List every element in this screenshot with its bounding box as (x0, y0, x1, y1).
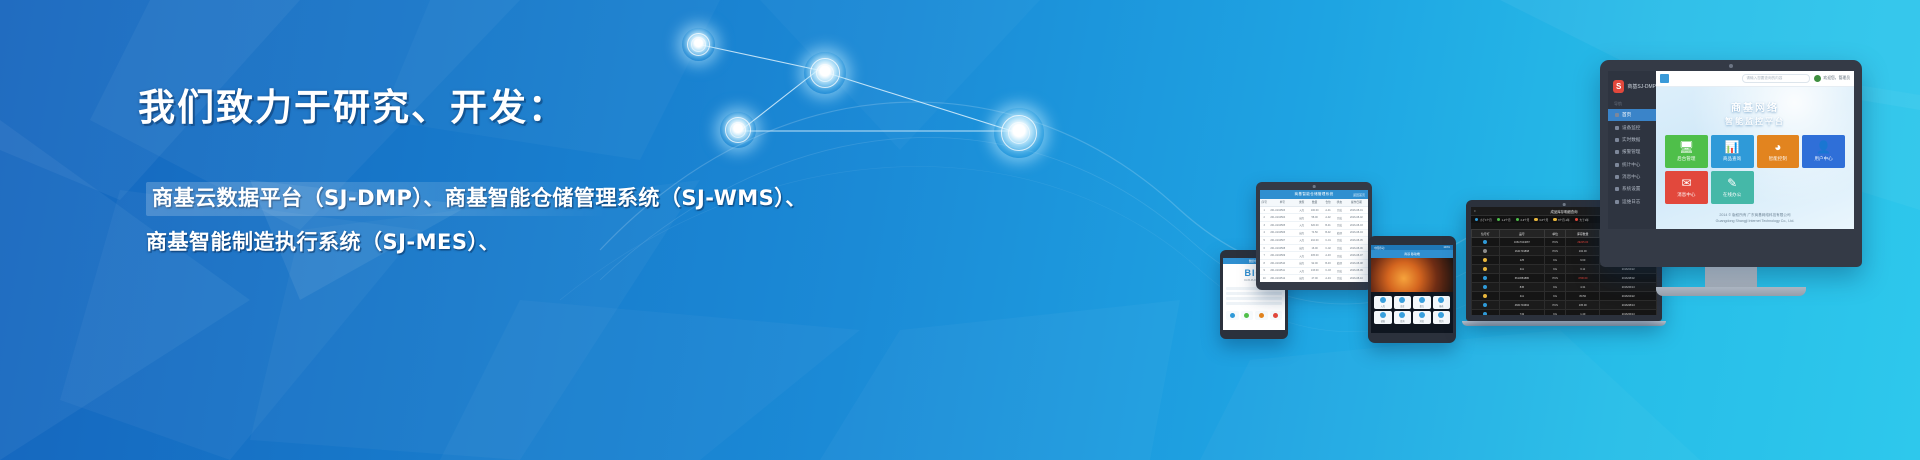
table-cell: 2016-08-02 (1345, 214, 1368, 222)
table-cell: 1641701868 (1499, 247, 1545, 256)
table-row[interactable]: 5201-0104507入库210.00C-01完成2016-08-05 (1260, 237, 1368, 245)
table-cell: 201-0104508 (1268, 244, 1296, 252)
column-header: 库存数量 (1566, 230, 1600, 238)
table-cell: B-02 (1322, 229, 1334, 237)
status-badge (1472, 301, 1500, 310)
sidebar-item-label: 实时数据 (1622, 137, 1640, 143)
table-cell: 4661704662 (1499, 301, 1545, 310)
phone-app-icon (1419, 297, 1425, 303)
sidebar-item-icon (1615, 200, 1619, 204)
table-cell: 出库 (1296, 214, 1307, 222)
column-header: 信号灯 (1472, 230, 1500, 238)
table-cell: 1.40 (1566, 310, 1600, 315)
sidebar-item-label: 系统设置 (1622, 186, 1640, 192)
status-badge (1472, 274, 1500, 283)
banner-copy: 我们致力于研究、开发： 商基云数据平台（SJ-DMP）、商基智能仓储管理系统（S… (138, 86, 958, 130)
table-cell: A-04 (1322, 275, 1334, 282)
signal-light-icon (1483, 312, 1487, 315)
table-cell: 入库 (1296, 267, 1307, 275)
legend-label: 大于1年 (1580, 218, 1589, 222)
legend-label: 6个月-1年 (1558, 218, 1570, 222)
hero-title: 商基网络 (1656, 99, 1854, 114)
column-header: 仓位 (1322, 199, 1334, 206)
legend-item: 大于1年 (1575, 218, 1589, 222)
app-icon (1660, 74, 1669, 83)
phone-app-cell[interactable]: 报表 (1433, 296, 1451, 309)
dashboard-footer: 2014 © 版权所有 广东商基网络科技有限公司 Guangdong Shang… (1656, 213, 1854, 224)
table-row[interactable]: 1201-0104503入库100.00A-01完成2016-08-01 (1260, 206, 1368, 214)
imac-mockup: S 商基SJ-DMP 导航 首页设备监控实时数据报警管理统计中心消息中心系统设置… (1600, 60, 1862, 296)
table-cell: 2 (1260, 214, 1268, 222)
dashboard-tile-label: 后台管理 (1677, 156, 1695, 162)
dashboard-tile[interactable]: ✎在线办公 (1711, 171, 1754, 204)
bar-chart-icon: 📊 (1725, 141, 1740, 153)
phone-app-icon (1380, 297, 1386, 303)
legend-label: 3-6个月 (1539, 218, 1548, 222)
envelope-icon: ✉ (1681, 177, 1691, 189)
tablet-data-table: 序号 单号 类型 数量 仓位 状态 操作日期 1201-0104503入库100… (1260, 199, 1368, 282)
table-cell: 201-0104506 (1268, 229, 1296, 237)
copyright-line-2: Guangdong Shangji Internet Technology Co… (1656, 219, 1854, 224)
table-cell: 80.50 (1566, 292, 1600, 301)
table-cell: 8 (1260, 259, 1268, 267)
dashboard-tile[interactable]: 🖥后台管理 (1665, 135, 1708, 168)
phone-app-icon (1419, 312, 1425, 318)
table-cell: C-02 (1322, 244, 1334, 252)
phone-app-label: 盘点 (1420, 304, 1424, 308)
imac-bezel: S 商基SJ-DMP 导航 首页设备监控实时数据报警管理统计中心消息中心系统设置… (1600, 60, 1862, 267)
table-cell: 411 (1499, 265, 1545, 274)
table-cell: 2016-08-10 (1345, 275, 1368, 282)
table-cell: 入库 (1296, 221, 1307, 229)
table-cell: 4 (1260, 229, 1268, 237)
dashboard-topbar: 请输入您要查询的内容 欢迎您，管理员 (1656, 71, 1854, 87)
signal-light-icon (1483, 249, 1487, 253)
avatar (1814, 75, 1821, 82)
table-cell: A-03 (1322, 252, 1334, 260)
table-cell: 102.00 (1566, 247, 1600, 256)
table-cell: 6 (1260, 244, 1268, 252)
status-badge (1472, 265, 1500, 274)
phone-small-icon[interactable] (1270, 311, 1283, 320)
table-cell: C-01 (1322, 237, 1334, 245)
status-badge (1472, 310, 1500, 315)
signal-light-icon (1483, 303, 1487, 307)
table-cell: 7 (1260, 252, 1268, 260)
table-cell: 完成 (1334, 221, 1345, 229)
page-title: 我们致力于研究、开发： (138, 86, 958, 130)
sidebar-item-icon (1615, 150, 1619, 154)
dashboard-hero: 商基网络 智能监控平台 (1656, 87, 1854, 127)
monitor-icon: 🖥 (1679, 141, 1694, 153)
phone-app-label: 报表 (1439, 304, 1443, 308)
table-cell: 2016/06/13 (1600, 310, 1657, 315)
hero-subtitle: 智能监控平台 (1656, 116, 1854, 127)
legend-label: 2-3个月 (1520, 218, 1529, 222)
status-dot-icon (1497, 218, 1500, 221)
brand-name: 商基SJ-DMP (1627, 83, 1656, 90)
table-cell: 405.00 (1307, 252, 1322, 260)
status-dot-icon (1516, 218, 1519, 221)
sidebar-item[interactable]: 运维日志 (1608, 196, 1656, 208)
table-cell: KG (1545, 283, 1566, 292)
dashboard-tile[interactable]: ✉消息中心 (1665, 171, 1708, 204)
table-row[interactable]: 743KG1.402016/06/13 (1472, 310, 1657, 315)
table-cell: KG (1545, 256, 1566, 265)
phone-app-cell[interactable]: 我的 (1433, 311, 1451, 324)
sidebar-item-icon (1615, 163, 1619, 167)
banner-subtitle: 商基云数据平台（SJ-DMP）、商基智能仓储管理系统（SJ-WMS）、 商基智能… (138, 176, 1038, 264)
legend-item: 6个月-1年 (1553, 218, 1569, 222)
table-cell: 201-0104511 (1268, 267, 1296, 275)
list-item (1226, 297, 1282, 300)
phone-appbar-title: 商基 移动端 (1404, 252, 1420, 256)
table-cell: C-03 (1322, 267, 1334, 275)
table-cell: 10 (1260, 275, 1268, 282)
table-cell: 210.00 (1307, 237, 1322, 245)
tablet-screen: 商基智能仓储管理系统 返回首页 序号 单号 类型 数量 仓位 状态 操作日期 1… (1260, 190, 1368, 282)
phone-small-icon[interactable] (1241, 311, 1254, 320)
table-cell: 3 (1260, 221, 1268, 229)
status-badge (1472, 238, 1500, 247)
table-cell: 6613681880 (1499, 274, 1545, 283)
tablet-mockup: 商基智能仓储管理系统 返回首页 序号 单号 类型 数量 仓位 状态 操作日期 1… (1256, 182, 1372, 290)
dashboard-tile-grid: 🖥后台管理📊商品查询◕智能控制👤用户中心✉消息中心✎在线办公 (1656, 127, 1854, 204)
phone-mockup: 中国移动 100% 商基 移动端 入库出库盘点报表调拨查询消息我的 (1368, 236, 1456, 343)
phone-app-icon (1380, 312, 1386, 318)
search-input[interactable]: 请输入您要查询的内容 (1742, 74, 1810, 83)
legend-label: 小于1个月 (1480, 218, 1492, 222)
phone-app-icon (1399, 297, 1405, 303)
table-row[interactable]: 3201-0104505入库320.00B-01完成2016-08-03 (1260, 221, 1368, 229)
column-header: 类型 (1296, 199, 1307, 206)
signal-light-icon (1483, 276, 1487, 280)
table-cell: 5 (1260, 237, 1268, 245)
table-row[interactable]: 4661704662PCS105.002016/08/13 (1472, 301, 1657, 310)
phone-app-cell[interactable]: 出库 (1394, 296, 1412, 309)
table-row[interactable]: 6201-0104508出库16.00C-02完成2016-08-06 (1260, 244, 1368, 252)
table-cell: PCS (1545, 238, 1566, 247)
table-row[interactable]: 10201-0104512出库47.00A-04完成2016-08-10 (1260, 275, 1368, 282)
phone-app-icon (1399, 312, 1405, 318)
tablet-titlebar: 商基智能仓储管理系统 返回首页 (1260, 190, 1368, 199)
table-cell: KG (1545, 310, 1566, 315)
table-row[interactable]: 7201-0104509入库405.00A-03完成2016-08-07 (1260, 252, 1368, 260)
dashboard-tile[interactable]: ◕智能控制 (1757, 135, 1800, 168)
sidebar-item-label: 报警管理 (1622, 149, 1640, 155)
phone-small-icon[interactable] (1226, 311, 1239, 320)
table-cell: 125 (1499, 256, 1545, 265)
edit-icon: ✎ (1727, 177, 1737, 189)
table-cell: 201-0104504 (1268, 214, 1296, 222)
subtitle-line-2: 商基智能制造执行系统（SJ-MES）、 (138, 220, 1038, 264)
sidebar-item-label: 运维日志 (1622, 199, 1640, 205)
table-cell: PCS (1545, 247, 1566, 256)
sidebar-item-label: 消息中心 (1622, 174, 1640, 180)
dashboard-sidebar: S 商基SJ-DMP 导航 首页设备监控实时数据报警管理统计中心消息中心系统设置… (1608, 71, 1656, 229)
sidebar-item-label: 设备监控 (1622, 125, 1640, 131)
table-cell: 入库 (1296, 237, 1307, 245)
table-cell: 入库 (1296, 252, 1307, 260)
table-cell: 2016-08-08 (1345, 259, 1368, 267)
device-mockup-cluster: 数据中心 BIG DATA PLATFORM (1220, 0, 1920, 460)
search-placeholder: 请输入您要查询的内容 (1746, 76, 1782, 81)
phone-app-label: 查询 (1400, 319, 1404, 323)
table-cell: PCS (1545, 274, 1566, 283)
camera-icon (1729, 64, 1733, 68)
table-cell: 58.00 (1307, 214, 1322, 222)
imac-stand-foot (1656, 287, 1806, 296)
dashboard-tile-label: 商品查询 (1723, 156, 1741, 162)
table-cell: 出库 (1296, 275, 1307, 282)
menu-icon[interactable]: ≡ (1474, 209, 1476, 213)
table-cell: 201-0104509 (1268, 252, 1296, 260)
phone-app-cell[interactable]: 盘点 (1413, 296, 1431, 309)
hero-banner: 我们致力于研究、开发： 商基云数据平台（SJ-DMP）、商基智能仓储管理系统（S… (0, 0, 1920, 460)
table-cell: KG (1545, 265, 1566, 274)
dashboard-tile[interactable]: 📊商品查询 (1711, 135, 1754, 168)
status-dot-icon (1553, 218, 1556, 221)
table-cell: 1661704466? (1499, 238, 1545, 247)
sidebar-item[interactable]: 系统设置 (1608, 183, 1656, 195)
table-cell: 201-0104512 (1268, 275, 1296, 282)
sidebar-item[interactable]: 报警管理 (1608, 146, 1656, 158)
user-menu[interactable]: 欢迎您，管理员 (1814, 75, 1850, 82)
status-badge (1472, 292, 1500, 301)
phone-app-icon (1438, 297, 1444, 303)
sidebar-section-label: 导航 (1608, 97, 1656, 109)
table-cell: 2016-08-03 (1345, 221, 1368, 229)
table-cell: 133.00 (1307, 267, 1322, 275)
sidebar-item-label: 统计中心 (1622, 162, 1640, 168)
phone-small-icon-grid (1223, 309, 1285, 322)
media-thumbnail (1371, 258, 1453, 292)
signal-light-icon (1483, 294, 1487, 298)
user-icon: 👤 (1816, 141, 1831, 153)
table-cell: 完成 (1334, 275, 1345, 282)
table-cell: 9.60 (1566, 256, 1600, 265)
table-cell: 201-0104510 (1268, 259, 1296, 267)
table-cell: 201-0104505 (1268, 221, 1296, 229)
sidebar-item[interactable]: 设备监控 (1608, 121, 1656, 133)
signal-light-icon (1483, 258, 1487, 262)
table-cell: A-02 (1322, 214, 1334, 222)
sidebar-item[interactable]: 统计中心 (1608, 159, 1656, 171)
imac-screen: S 商基SJ-DMP 导航 首页设备监控实时数据报警管理统计中心消息中心系统设置… (1608, 71, 1854, 229)
dashboard-main: 请输入您要查询的内容 欢迎您，管理员 商基网络 智能监控平台 🖥后台管理📊商品 (1656, 71, 1854, 229)
phone-app-label: 消息 (1420, 319, 1424, 323)
user-name: 欢迎您，管理员 (1823, 76, 1850, 81)
table-cell: 201-0104503 (1268, 206, 1296, 214)
signal-light-icon (1483, 240, 1487, 244)
status-dot-icon (1575, 218, 1578, 221)
list-item (1226, 302, 1282, 305)
dashboard-tile-label: 消息中心 (1677, 192, 1695, 198)
table-cell: 201-0104507 (1268, 237, 1296, 245)
table-cell: 4700.00 (1566, 274, 1600, 283)
table-cell: 1 (1260, 206, 1268, 214)
table-cell: 411 (1499, 292, 1545, 301)
status-badge (1472, 256, 1500, 265)
table-row[interactable]: 9201-0104511入库133.00C-03完成2016-08-09 (1260, 267, 1368, 275)
window-title: 成品库存明细查询 (1550, 209, 1577, 214)
phone-app-cell[interactable]: 入库 (1374, 296, 1392, 309)
table-header-row: 序号 单号 类型 数量 仓位 状态 操作日期 (1260, 199, 1368, 206)
sidebar-item[interactable]: 消息中心 (1608, 171, 1656, 183)
pie-chart-icon: ◕ (1774, 141, 1781, 153)
phone-app-cell[interactable]: 消息 (1413, 311, 1431, 324)
table-cell: 2016-08-04 (1345, 229, 1368, 237)
camera-icon (1563, 203, 1566, 206)
phone-app-label: 我的 (1439, 319, 1443, 323)
table-cell: 出库 (1296, 244, 1307, 252)
column-header: 操作日期 (1345, 199, 1368, 206)
table-cell: 完成 (1334, 267, 1345, 275)
camera-icon (1313, 185, 1316, 188)
column-header: 品号 (1499, 230, 1545, 238)
column-header: 单位 (1545, 230, 1566, 238)
phone-app-icon (1438, 312, 1444, 318)
carrier-label: 中国移动 (1374, 246, 1384, 250)
legend-item: 1-2个月 (1497, 218, 1511, 222)
logo-icon: S (1613, 80, 1624, 93)
table-cell: 出库 (1296, 259, 1307, 267)
column-header: 数量 (1307, 199, 1322, 206)
column-header: 状态 (1334, 199, 1345, 206)
signal-light-icon (1483, 267, 1487, 271)
phone-appbar: 商基 移动端 (1371, 250, 1453, 258)
signal-light-icon (1483, 285, 1487, 289)
table-cell: B-01 (1322, 221, 1334, 229)
table-cell: 100.00 (1307, 206, 1322, 214)
sidebar-item-icon (1615, 187, 1619, 191)
status-dot-icon (1534, 218, 1537, 221)
status-badge (1472, 247, 1500, 256)
table-cell: 完成 (1334, 206, 1345, 214)
phone-app-label: 调拨 (1381, 319, 1385, 323)
sidebar-item-icon (1615, 126, 1619, 130)
table-cell: 完成 (1334, 252, 1345, 260)
table-cell: 743 (1499, 310, 1545, 315)
phone-app-cell[interactable]: 调拨 (1374, 311, 1392, 324)
imac-chin (1608, 229, 1854, 247)
legend-item: 小于1个月 (1475, 218, 1492, 222)
dashboard-tile-label: 在线办公 (1723, 192, 1741, 198)
table-cell: 2016-08-09 (1345, 267, 1368, 275)
sidebar-item[interactable]: 首页 (1608, 109, 1656, 121)
brand-logo: S 商基SJ-DMP (1608, 75, 1656, 97)
phone-small-icon[interactable] (1255, 311, 1268, 320)
sidebar-item-icon (1615, 138, 1619, 142)
legend-item: 2-3个月 (1516, 218, 1530, 222)
table-cell: 2016-08-01 (1345, 206, 1368, 214)
table-cell: 92.00 (1307, 259, 1322, 267)
table-cell: 47.00 (1307, 275, 1322, 282)
dashboard-tile-label: 智能控制 (1769, 156, 1787, 162)
table-row[interactable]: 8201-0104510出库92.00B-03处理2016-08-08 (1260, 259, 1368, 267)
table-cell: 4.31 (1566, 283, 1600, 292)
table-cell: B-03 (1322, 259, 1334, 267)
table-cell: 29225.00 (1566, 238, 1600, 247)
dashboard-tile-label: 用户中心 (1814, 156, 1832, 162)
sidebar-item[interactable]: 实时数据 (1608, 134, 1656, 146)
table-cell: A-01 (1322, 206, 1334, 214)
legend-item: 3-6个月 (1534, 218, 1548, 222)
table-cell: PCS (1545, 301, 1566, 310)
table-cell: 出库 (1296, 229, 1307, 237)
phone-screen: 中国移动 100% 商基 移动端 入库出库盘点报表调拨查询消息我的 (1371, 245, 1453, 333)
status-dot-icon (1475, 218, 1478, 221)
legend-label: 1-2个月 (1502, 218, 1511, 222)
tablet-home-link[interactable]: 返回首页 (1353, 193, 1365, 197)
table-cell: 16.00 (1307, 244, 1322, 252)
table-cell: 74.50 (1307, 229, 1322, 237)
table-cell: 2016-08-06 (1345, 244, 1368, 252)
sidebar-item-label: 首页 (1622, 112, 1631, 118)
table-row[interactable]: 4201-0104506出库74.50B-02处理2016-08-04 (1260, 229, 1368, 237)
table-cell: 完成 (1334, 244, 1345, 252)
list-item (1226, 292, 1282, 295)
table-cell: 6.11 (1566, 265, 1600, 274)
table-cell: 2016-08-05 (1345, 237, 1368, 245)
column-header: 序号 (1260, 199, 1268, 206)
table-cell: 2016/08/13 (1600, 301, 1657, 310)
phone-app-cell[interactable]: 查询 (1394, 311, 1412, 324)
laptop-base (1462, 321, 1666, 326)
table-cell: 完成 (1334, 214, 1345, 222)
table-cell: KG (1545, 292, 1566, 301)
tablet-title: 商基智能仓储管理系统 (1295, 192, 1334, 197)
table-row[interactable]: 2201-0104504出库58.00A-02完成2016-08-02 (1260, 214, 1368, 222)
status-badge (1472, 283, 1500, 292)
dashboard-tile[interactable]: 👤用户中心 (1802, 135, 1845, 168)
table-cell: 入库 (1296, 206, 1307, 214)
battery-label: 100% (1443, 246, 1450, 249)
sidebar-item-icon (1615, 175, 1619, 179)
phone-icon-grid: 入库出库盘点报表调拨查询消息我的 (1371, 292, 1453, 328)
column-header: 单号 (1268, 199, 1296, 206)
table-cell: 105.00 (1566, 301, 1600, 310)
imac-stand-neck (1705, 267, 1757, 287)
table-cell: 处理 (1334, 229, 1345, 237)
table-cell: 845 (1499, 283, 1545, 292)
table-cell: 320.00 (1307, 221, 1322, 229)
phone-app-label: 入库 (1381, 304, 1385, 308)
table-cell: 2016-08-07 (1345, 252, 1368, 260)
phone-app-label: 出库 (1400, 304, 1404, 308)
subtitle-highlight-band (146, 182, 606, 216)
table-cell: 完成 (1334, 237, 1345, 245)
table-cell: 9 (1260, 267, 1268, 275)
table-cell: 处理 (1334, 259, 1345, 267)
sidebar-item-icon (1615, 113, 1619, 117)
